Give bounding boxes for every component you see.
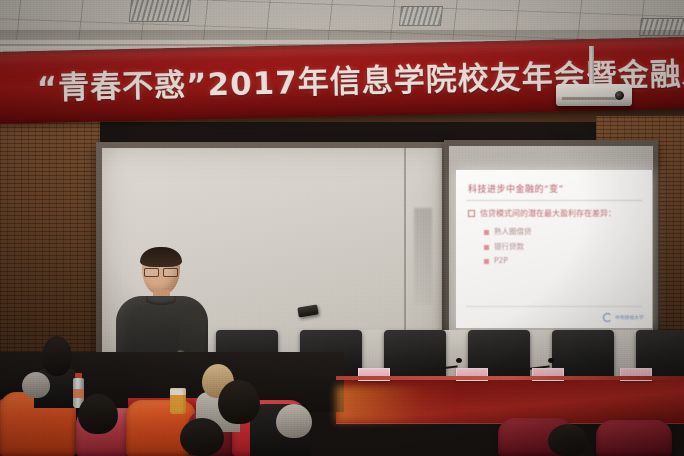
presentation-slide: 科技进步中金融的“变” 信贷模式间的潜在最大盈利存在差异： 熟人圈借贷 银行贷款… [456,170,652,328]
slide-institution-logo: 中央财经大学 [603,313,644,322]
attendee-head-front [180,418,224,456]
attendee-head [218,380,260,424]
slide-footer-rule [466,306,642,307]
ceiling-vent-center [399,6,443,26]
bullet-square-solid-icon [484,245,489,250]
attendee-head-front [548,424,588,456]
slide-sub-bullet-2-text: 银行贷款 [494,242,524,251]
slide-sub-bullet-2: 银行贷款 [484,241,524,252]
attendee-head-gray [22,372,50,398]
presenter-glasses [144,268,178,275]
theater-seat [596,420,672,456]
panel-table-edge [336,376,684,380]
bullet-square-solid-icon [484,230,489,235]
ceiling-vent-left [129,0,192,22]
projector-lens [615,91,624,100]
slide-title: 科技进步中金融的“变” [468,182,564,195]
panel-table-glare [336,386,456,422]
slide-sub-bullet-1-text: 熟人圈借贷 [494,227,532,236]
projector-band [562,97,618,100]
conference-photograph: “青春不惑”2017年信息学院校友年会暨金融发展俱乐部 科技进步中金融的“变” … [0,0,684,456]
attendee-head-front-gray [276,404,312,438]
slide-content: 科技进步中金融的“变” 信贷模式间的潜在最大盈利存在差异： 熟人圈借贷 银行贷款… [456,170,652,328]
slide-sub-bullet-1: 熟人圈借贷 [484,226,532,237]
presenter-hair [140,247,182,267]
whiteboard-divider [404,148,406,360]
slide-bullet-main-text: 信贷模式间的潜在最大盈利存在差异： [480,209,616,218]
slide-title-rule [466,200,642,201]
slide-sub-bullet-3: P2P [484,256,508,265]
bullet-square-hollow-icon [468,210,475,217]
presenter-collar [146,296,176,305]
slide-bullet-main: 信贷模式间的潜在最大盈利存在差异： [468,208,616,219]
bullet-square-solid-icon [484,259,489,264]
slide-logo-text: 中央财经大学 [615,315,644,321]
whiteboard-faint-writing [414,208,432,304]
projector-mount-pole [589,46,594,86]
university-crest-icon [603,313,612,322]
slide-sub-bullet-3-text: P2P [494,256,508,265]
ceiling-projector [556,84,632,106]
event-banner: “青春不惑”2017年信息学院校友年会暨金融发展俱乐部 [0,37,684,124]
attendee-head-front [78,394,118,434]
beer-glass [170,388,186,414]
attendee-head [42,336,72,376]
